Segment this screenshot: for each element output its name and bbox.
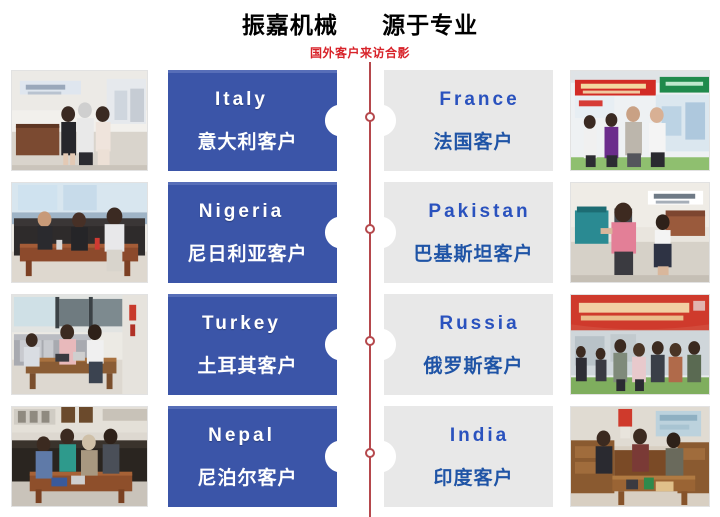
panel-text-group: Italy 意大利客户	[168, 70, 337, 171]
photo-expo-booth-red-banner	[570, 70, 710, 171]
photo-office-sofa-three	[570, 406, 710, 507]
country-name-zh: 法国客户	[384, 127, 553, 154]
country-name-zh: 俄罗斯客户	[384, 351, 553, 378]
country-name-en: Turkey	[168, 313, 337, 335]
country-rows: Italy 意大利客户 France 法国客户	[0, 66, 720, 517]
country-row: Italy 意大利客户 France 法国客户	[0, 66, 720, 178]
country-panel-grey[interactable]: India 印度客户	[384, 406, 553, 507]
country-panel-grey[interactable]: Pakistan 巴基斯坦客户	[384, 182, 553, 283]
country-name-zh: 巴基斯坦客户	[384, 239, 553, 266]
photo-image	[12, 183, 147, 282]
page-header: 振嘉机械 源于专业 国外客户来访合影	[0, 0, 720, 66]
page-root: 振嘉机械 源于专业 国外客户来访合影	[0, 0, 720, 517]
country-name-en: India	[384, 425, 553, 447]
panel-text-group: France 法国客户	[384, 70, 553, 171]
country-name-en: Nepal	[168, 425, 337, 447]
panel-text-group: Russia 俄罗斯客户	[384, 294, 553, 395]
photo-sofa-four-people	[11, 406, 148, 507]
country-name-en: France	[384, 89, 553, 111]
photo-sofa-tea-table-three	[11, 182, 148, 283]
country-name-zh: 土耳其客户	[168, 351, 337, 378]
page-title: 振嘉机械 源于专业	[0, 6, 720, 40]
country-name-en: Pakistan	[384, 201, 553, 223]
photo-image	[571, 407, 709, 506]
panel-text-group: Nigeria 尼日利亚客户	[168, 182, 337, 283]
photo-image	[12, 71, 147, 170]
photo-workshop-two-people	[570, 182, 710, 283]
photo-image	[12, 295, 147, 394]
country-name-en: Italy	[168, 89, 337, 111]
country-panel-grey[interactable]: Russia 俄罗斯客户	[384, 294, 553, 395]
photo-image	[571, 71, 709, 170]
photo-image	[12, 407, 147, 506]
country-panel-blue[interactable]: Turkey 土耳其客户	[168, 294, 337, 395]
panel-text-group: India 印度客户	[384, 406, 553, 507]
country-name-zh: 印度客户	[384, 463, 553, 490]
country-name-en: Nigeria	[168, 201, 337, 223]
panel-text-group: Turkey 土耳其客户	[168, 294, 337, 395]
country-panel-blue[interactable]: Nigeria 尼日利亚客户	[168, 182, 337, 283]
country-row: Nigeria 尼日利亚客户 Pakistan 巴基斯坦客户	[0, 178, 720, 290]
country-panel-blue[interactable]: Nepal 尼泊尔客户	[168, 406, 337, 507]
photo-window-sofa-three	[11, 294, 148, 395]
country-name-zh: 尼泊尔客户	[168, 463, 337, 490]
panel-text-group: Nepal 尼泊尔客户	[168, 406, 337, 507]
country-panel-grey[interactable]: France 法国客户	[384, 70, 553, 171]
photo-expo-group-banner	[570, 294, 710, 395]
photo-image	[571, 295, 709, 394]
page-subtitle: 国外客户来访合影	[0, 44, 720, 61]
country-name-zh: 意大利客户	[168, 127, 337, 154]
country-row: Nepal 尼泊尔客户 India 印度客户	[0, 402, 720, 517]
photo-image	[571, 183, 709, 282]
photo-office-lobby-group	[11, 70, 148, 171]
country-name-en: Russia	[384, 313, 553, 335]
country-name-zh: 尼日利亚客户	[168, 239, 337, 266]
country-row: Turkey 土耳其客户 Russia 俄罗斯客户	[0, 290, 720, 402]
country-panel-blue[interactable]: Italy 意大利客户	[168, 70, 337, 171]
panel-text-group: Pakistan 巴基斯坦客户	[384, 182, 553, 283]
